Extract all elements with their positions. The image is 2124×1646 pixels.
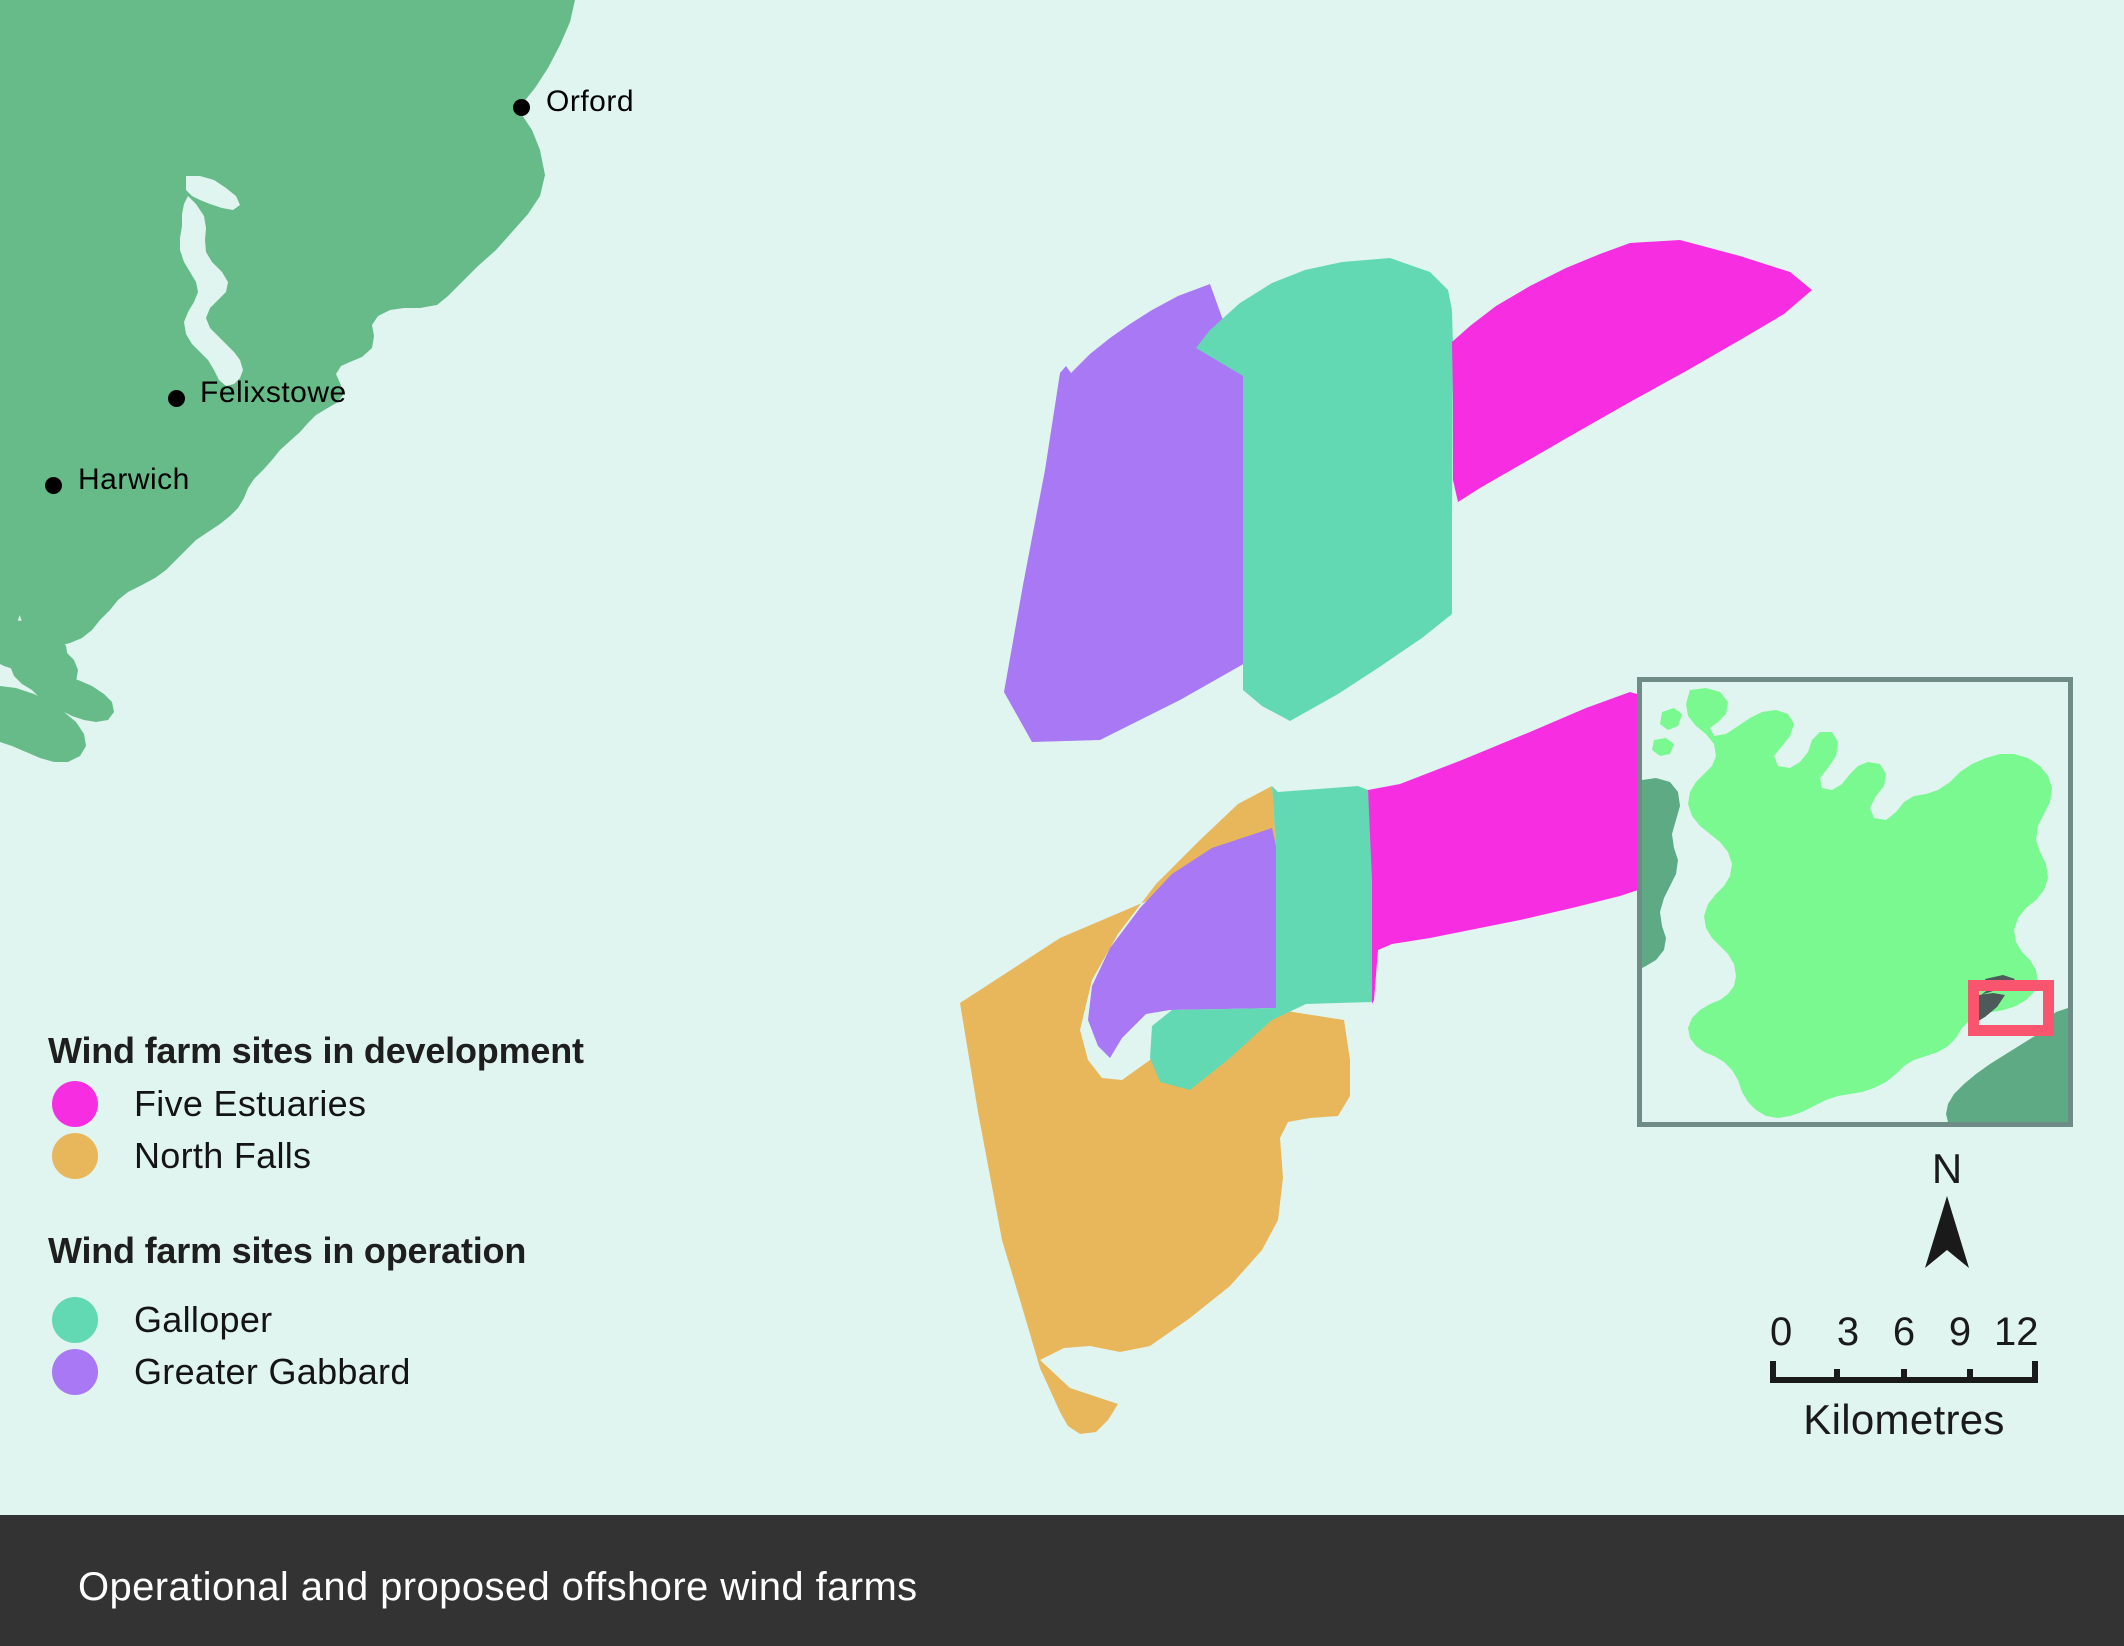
legend-label-galloper: Galloper — [134, 1299, 272, 1341]
place-label-felixstowe: Felixstowe — [200, 376, 347, 410]
legend-heading-development: Wind farm sites in development — [48, 1030, 668, 1072]
scale-tick-12: 12 — [1994, 1310, 2038, 1355]
north-arrow-icon — [1917, 1194, 1977, 1274]
north-arrow: N — [1892, 1148, 2002, 1279]
inset-vector-layer — [1642, 682, 2068, 1122]
scale-tick-0: 0 — [1770, 1310, 1814, 1355]
legend-item-greater-gabbard[interactable]: Greater Gabbard — [48, 1346, 668, 1398]
place-label-orford: Orford — [546, 85, 634, 119]
place-dot-harwich — [45, 477, 62, 494]
map-title: Operational and proposed offshore wind f… — [78, 1565, 918, 1610]
scale-bar: 0 3 6 9 12 Kilometres — [1770, 1310, 2038, 1444]
legend-label-greater-gabbard: Greater Gabbard — [134, 1351, 411, 1393]
inset-locator-map[interactable] — [1637, 677, 2073, 1127]
north-letter: N — [1892, 1148, 2002, 1190]
legend-label-north-falls: North Falls — [134, 1135, 311, 1177]
scale-tick-9: 9 — [1938, 1310, 1982, 1355]
bottom-title-bar: Operational and proposed offshore wind f… — [0, 1515, 2124, 1646]
inset-highlight-box — [1968, 980, 2054, 1036]
map-page: Orford Felixstowe Harwich Wind farm site… — [0, 0, 2124, 1646]
legend-item-north-falls[interactable]: North Falls — [48, 1130, 668, 1182]
legend-heading-operation: Wind farm sites in operation — [48, 1230, 668, 1272]
scale-bar-tick-labels: 0 3 6 9 12 — [1770, 1310, 2038, 1355]
legend-label-five-estuaries: Five Estuaries — [134, 1083, 366, 1125]
legend-item-five-estuaries[interactable]: Five Estuaries — [48, 1078, 668, 1130]
scale-tick-6: 6 — [1882, 1310, 1926, 1355]
legend-swatch-greater-gabbard — [52, 1349, 98, 1395]
place-dot-felixstowe — [168, 390, 185, 407]
scale-bar-units-label: Kilometres — [1770, 1396, 2038, 1444]
legend-item-galloper[interactable]: Galloper — [48, 1294, 668, 1346]
legend-swatch-galloper — [52, 1297, 98, 1343]
legend-swatch-north-falls — [52, 1133, 98, 1179]
scale-tick-3: 3 — [1826, 1310, 1870, 1355]
scale-bar-graphic — [1770, 1359, 2038, 1385]
legend-panel: Wind farm sites in development Five Estu… — [48, 1030, 668, 1398]
place-dot-orford — [513, 99, 530, 116]
legend-swatch-five-estuaries — [52, 1081, 98, 1127]
place-label-harwich: Harwich — [78, 463, 190, 497]
